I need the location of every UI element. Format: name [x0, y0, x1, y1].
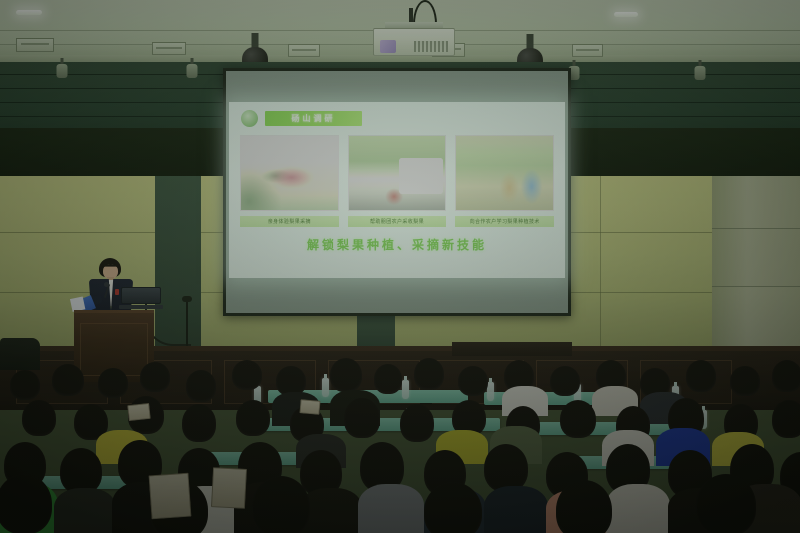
laptop-screen: [121, 287, 161, 304]
water-bottle: [402, 380, 409, 399]
air-vent: [16, 38, 54, 52]
air-vent: [152, 42, 186, 55]
lectern-microphone: [104, 282, 109, 287]
air-vent: [572, 44, 603, 57]
handout-sheet: [211, 467, 247, 509]
audience-torso: [606, 484, 670, 533]
wall-lamp: [56, 58, 68, 80]
recessed-light: [614, 12, 638, 17]
wall-lamp: [186, 58, 198, 80]
audience-head: [772, 400, 800, 438]
audience-head: [400, 404, 434, 442]
audience-head: [344, 398, 380, 438]
audience-head: [686, 360, 716, 392]
audience-torso: [484, 486, 548, 533]
lecture-hall-photo: 砀山调研 亲身体验梨果采摘 帮助朋团农户采收梨果 向合作农户学习梨果种植技术 解…: [0, 0, 800, 533]
audience-seating: [0, 356, 800, 533]
slide-caption: 亲身体验梨果采摘: [240, 216, 339, 227]
audience-head: [772, 360, 800, 392]
slide-photo: [455, 135, 554, 211]
laptop-base: [119, 305, 163, 309]
handout-sheet: [127, 403, 151, 421]
audience-head: [232, 360, 262, 390]
room-background: 砀山调研 亲身体验梨果采摘 帮助朋团农户采收梨果 向合作农户学习梨果种植技术 解…: [0, 0, 800, 533]
audience-head: [374, 364, 402, 394]
audience-head: [22, 400, 56, 436]
audience-head: [556, 480, 612, 533]
audience-head: [140, 362, 170, 392]
audience-torso: [54, 488, 116, 533]
projection-screen: 砀山调研 亲身体验梨果采摘 帮助朋团农户采收梨果 向合作农户学习梨果种植技术 解…: [223, 68, 571, 316]
audience-head: [730, 366, 760, 396]
slide-title-text: 砀山调研: [292, 113, 336, 124]
handout-sheet: [299, 399, 320, 415]
audience-head: [182, 404, 216, 442]
projector-body: [373, 28, 455, 56]
audience-head: [330, 358, 362, 392]
microphone-head: [182, 296, 192, 302]
audience-head: [236, 400, 270, 436]
water-bottle: [487, 382, 494, 401]
audience-head: [98, 368, 128, 398]
audience-head: [186, 370, 216, 402]
water-bottle: [322, 378, 329, 397]
slide-caption-row: 亲身体验梨果采摘 帮助朋团农户采收梨果 向合作农户学习梨果种植技术: [240, 216, 554, 227]
audience-head: [52, 364, 84, 396]
wall-lamp: [694, 60, 706, 82]
audience-head: [424, 482, 482, 533]
audience-head: [0, 474, 52, 533]
presenter-laptop: [119, 287, 163, 309]
audience-head: [414, 358, 444, 390]
audience-head: [550, 366, 580, 396]
air-vent: [288, 44, 320, 57]
microphone-stand: [186, 300, 188, 346]
slide-tagline: 解锁梨果种植、采摘新技能: [229, 236, 565, 253]
slide-title-banner: 砀山调研: [265, 111, 362, 126]
slide-caption: 帮助朋团农户采收梨果: [348, 216, 447, 227]
audience-head: [10, 370, 40, 400]
stone-column: [712, 176, 800, 352]
audience-head: [252, 476, 310, 533]
stage-side-table: [452, 342, 572, 356]
projector-vent-grille: [414, 41, 448, 52]
slide-caption: 向合作农户学习梨果种植技术: [455, 216, 554, 227]
recessed-light: [16, 10, 42, 15]
slide-logo-icon: [241, 110, 258, 127]
audience-head: [458, 366, 488, 396]
slide-photo: [348, 135, 447, 211]
handout-sheet: [149, 473, 192, 520]
audience-head: [696, 474, 756, 533]
projected-slide: 砀山调研 亲身体验梨果采摘 帮助朋团农户采收梨果 向合作农户学习梨果种植技术 解…: [229, 102, 565, 278]
audience-head: [484, 444, 528, 492]
audience-head: [560, 400, 596, 438]
slide-photo-row: [240, 135, 554, 211]
projector-lens: [380, 40, 396, 53]
audience-torso: [358, 484, 424, 533]
slide-photo: [240, 135, 339, 211]
